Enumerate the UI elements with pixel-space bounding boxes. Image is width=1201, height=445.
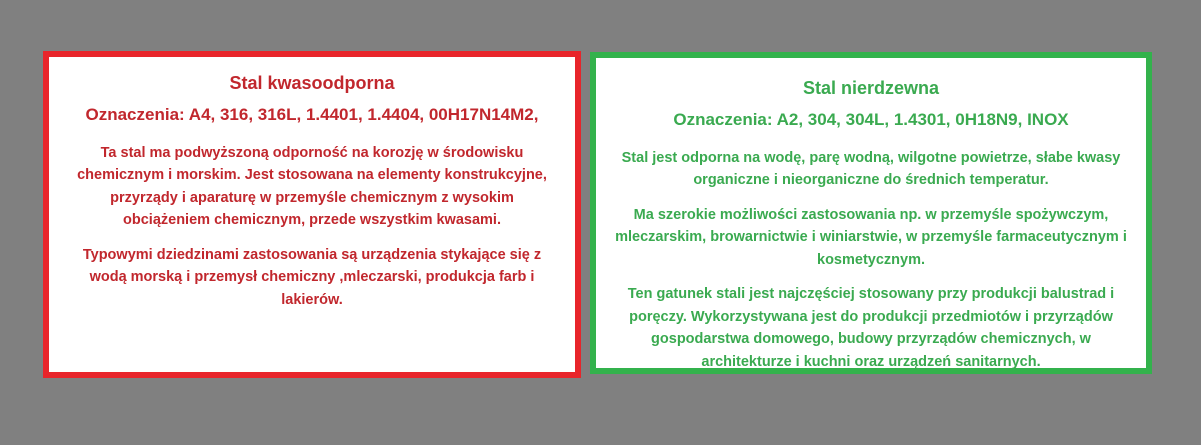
comparison-board: Stal kwasoodporna Oznaczenia: A4, 316, 3… — [0, 0, 1201, 445]
panel-content-stainless-steel: Stal nierdzewna Oznaczenia: A2, 304, 304… — [596, 58, 1146, 374]
panel-paragraph-stainless-steel-1: Stal jest odporna na wodę, parę wodną, w… — [608, 147, 1134, 192]
panel-paragraph-stainless-steel-2: Ma szerokie możliwości zastosowania np. … — [608, 204, 1134, 271]
panel-paragraph-stainless-steel-3: Ten gatunek stali jest najczęściej stoso… — [608, 283, 1134, 373]
panel-designations-stainless-steel: Oznaczenia: A2, 304, 304L, 1.4301, 0H18N… — [608, 108, 1134, 133]
panel-paragraph-acid-resistant-steel-2: Typowymi dziedzinami zastosowania są urz… — [61, 244, 563, 311]
panel-content-acid-resistant-steel: Stal kwasoodporna Oznaczenia: A4, 316, 3… — [49, 57, 575, 319]
panel-title-stainless-steel: Stal nierdzewna — [608, 76, 1134, 100]
panel-designations-acid-resistant-steel: Oznaczenia: A4, 316, 316L, 1.4401, 1.440… — [61, 103, 563, 128]
panel-stainless-steel: Stal nierdzewna Oznaczenia: A2, 304, 304… — [590, 52, 1152, 374]
panel-acid-resistant-steel: Stal kwasoodporna Oznaczenia: A4, 316, 3… — [43, 51, 581, 378]
panel-paragraph-acid-resistant-steel-1: Ta stal ma podwyższoną odporność na koro… — [61, 142, 563, 232]
panel-title-acid-resistant-steel: Stal kwasoodporna — [61, 71, 563, 95]
